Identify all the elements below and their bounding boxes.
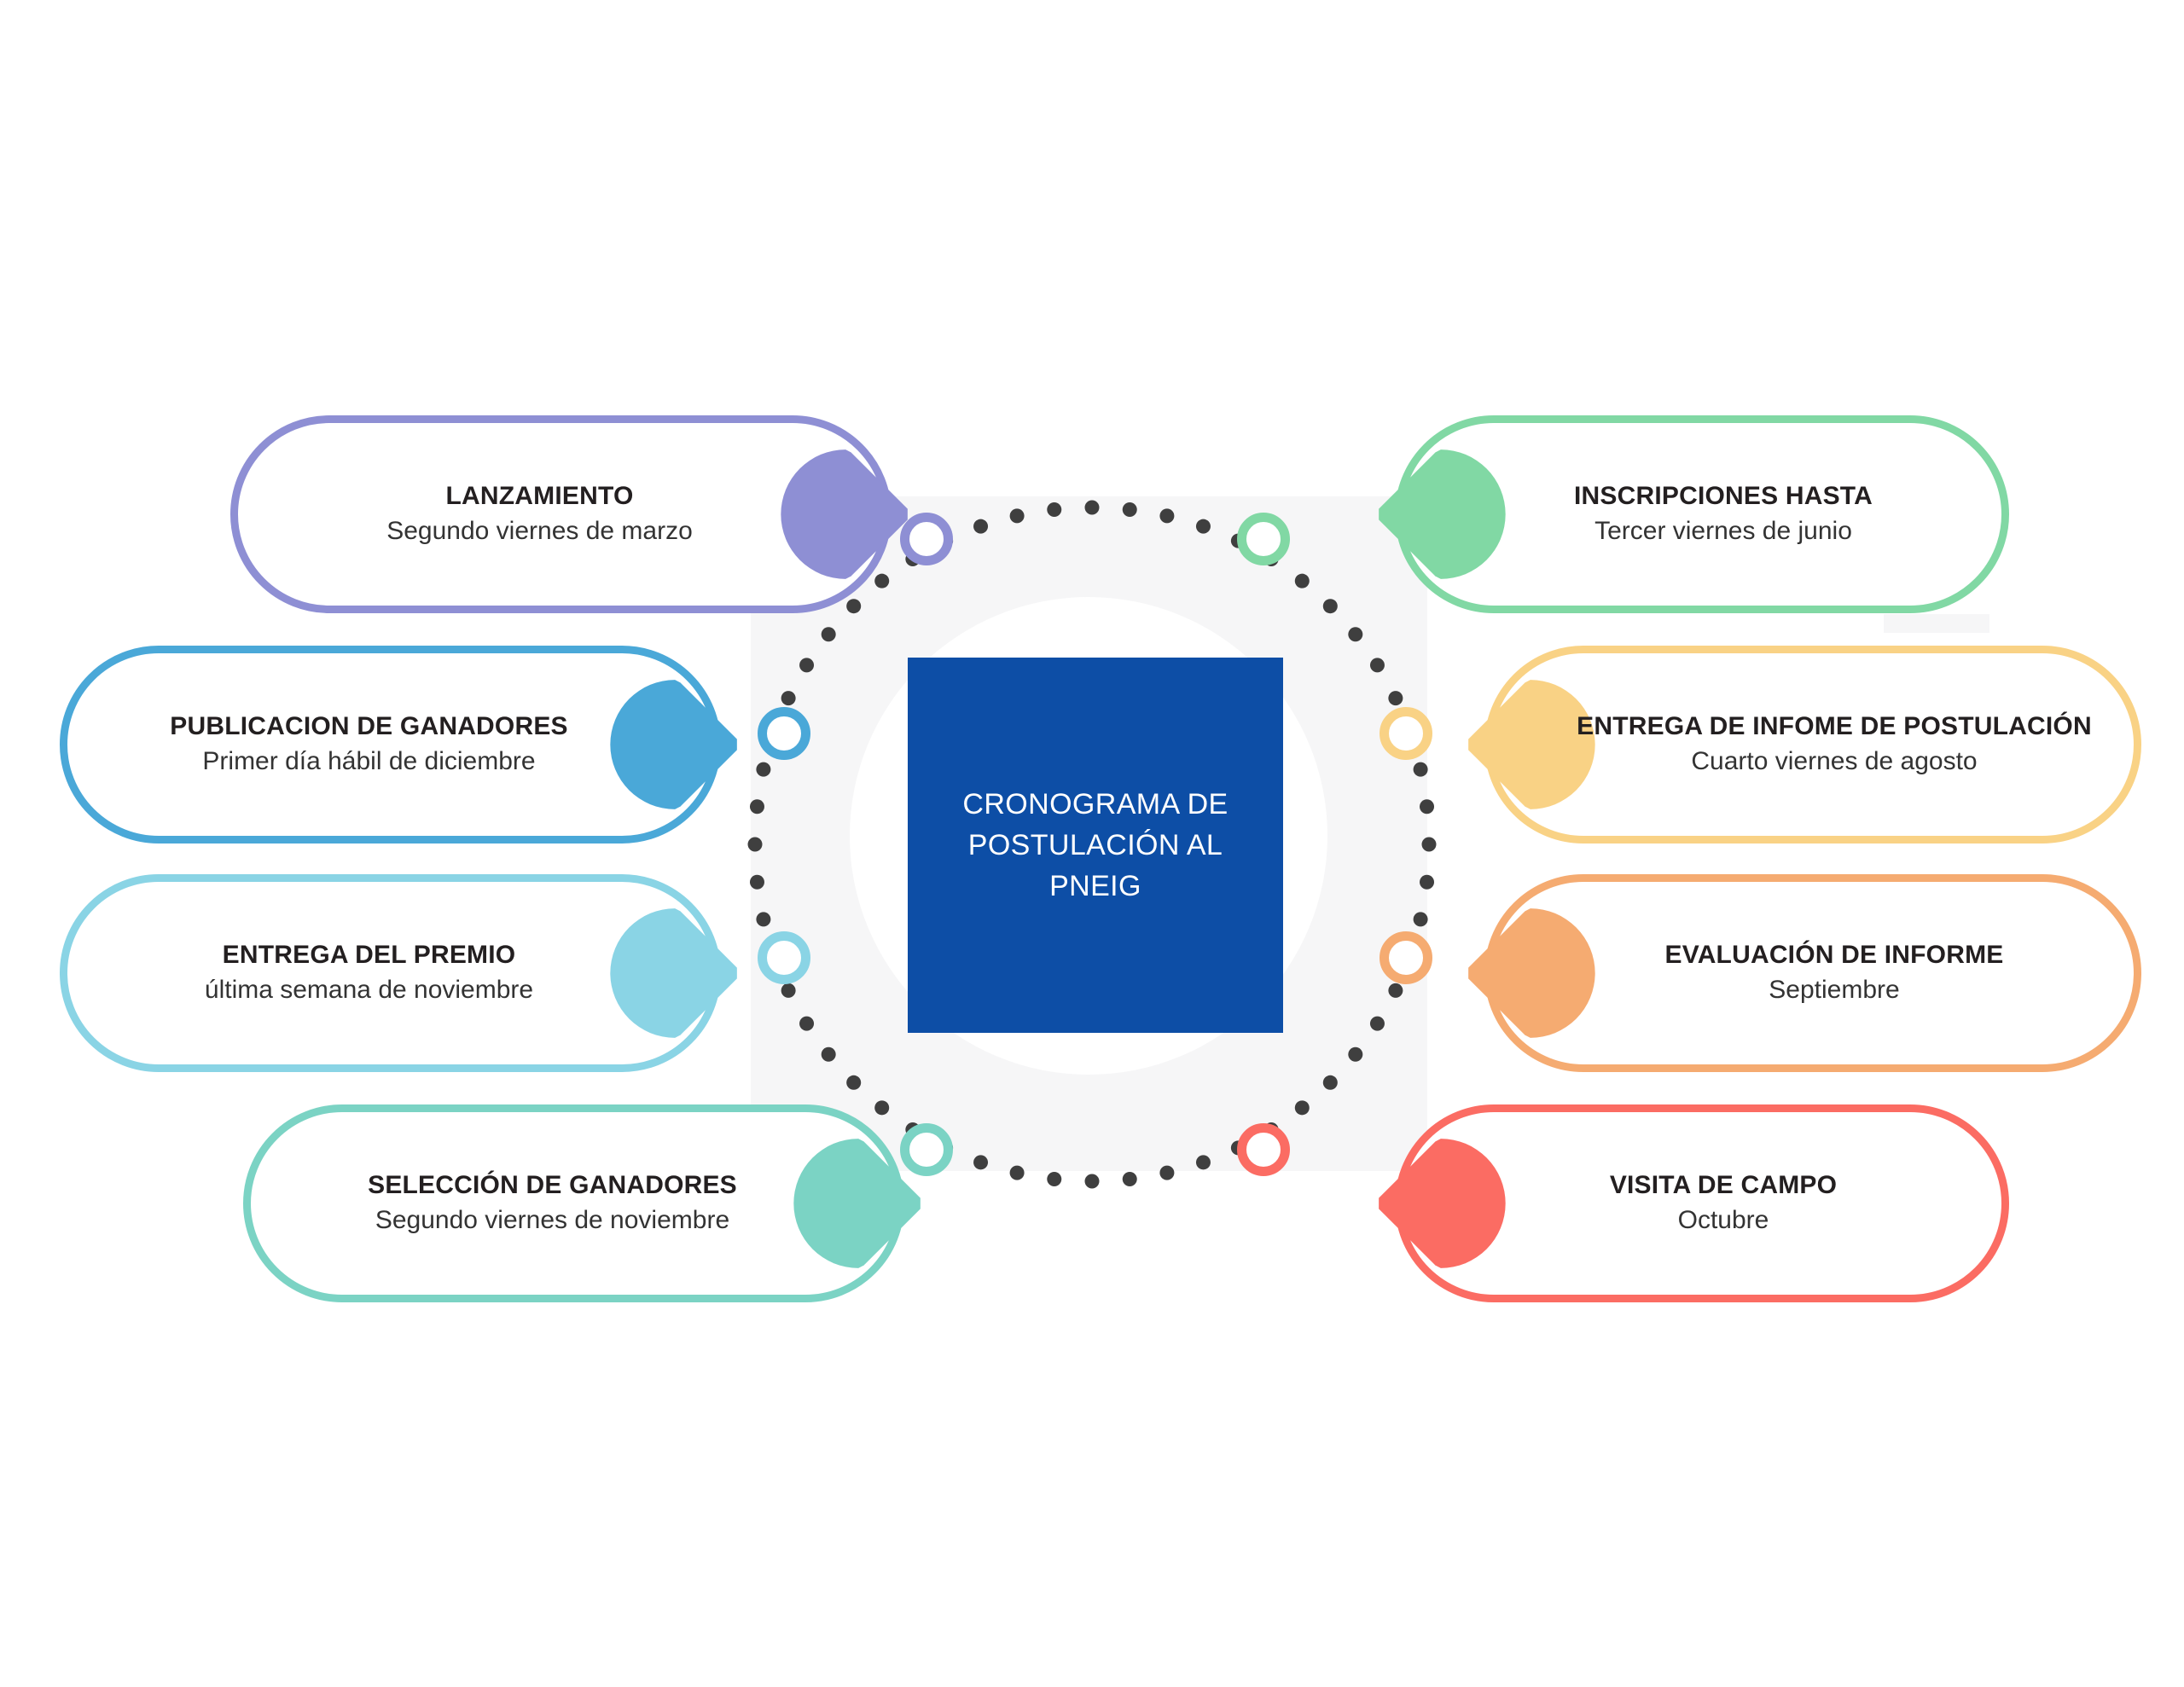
item-title: LANZAMIENTO	[270, 480, 810, 512]
item-subtitle: última semana de noviembre	[99, 974, 639, 1006]
node-ring-inscripciones-hasta[interactable]	[1237, 513, 1290, 565]
item-labels: VISITA DE CAMPO Octubre	[1395, 1169, 2009, 1238]
diagram-canvas: LANZAMIENTO Segundo viernes de marzo PUB…	[0, 0, 2184, 1687]
node-ring-visita-de-campo[interactable]	[1237, 1123, 1290, 1176]
item-inscripciones-hasta[interactable]: INSCRIPCIONES HASTA Tercer viernes de ju…	[1395, 415, 2009, 613]
center-title-card: CRONOGRAMA DE POSTULACIÓN AL PNEIG	[908, 658, 1283, 1033]
node-ring-evaluacion-de-informe[interactable]	[1380, 931, 1432, 984]
background-artifact-rect	[1884, 614, 1989, 633]
item-labels: PUBLICACION DE GANADORES Primer día hábi…	[60, 710, 721, 779]
item-seleccion-de-ganadores[interactable]: SELECCIÓN DE GANADORES Segundo viernes d…	[243, 1104, 904, 1302]
item-lanzamiento[interactable]: LANZAMIENTO Segundo viernes de marzo	[230, 415, 892, 613]
item-subtitle: Octubre	[1477, 1204, 1970, 1237]
item-labels: SELECCIÓN DE GANADORES Segundo viernes d…	[243, 1169, 904, 1238]
item-labels: INSCRIPCIONES HASTA Tercer viernes de ju…	[1395, 480, 2009, 548]
item-subtitle: Cuarto viernes de agosto	[1566, 745, 2102, 778]
item-title: EVALUACIÓN DE INFORME	[1566, 939, 2102, 971]
item-labels: LANZAMIENTO Segundo viernes de marzo	[230, 480, 892, 548]
node-ring-entrega-del-premio[interactable]	[758, 931, 810, 984]
item-entrega-del-premio[interactable]: ENTREGA DEL PREMIO última semana de novi…	[60, 874, 721, 1072]
item-title: SELECCIÓN DE GANADORES	[282, 1169, 822, 1201]
node-ring-publicacion-de-ganadores[interactable]	[758, 707, 810, 760]
item-labels: EVALUACIÓN DE INFORME Septiembre	[1484, 939, 2141, 1007]
item-title: ENTREGA DE INFOME DE POSTULACIÓN	[1566, 710, 2102, 742]
item-title: PUBLICACION DE GANADORES	[99, 710, 639, 742]
item-labels: ENTREGA DEL PREMIO última semana de novi…	[60, 939, 721, 1007]
item-labels: ENTREGA DE INFOME DE POSTULACIÓN Cuarto …	[1484, 710, 2141, 779]
item-subtitle: Primer día hábil de diciembre	[99, 745, 639, 778]
node-ring-entrega-de-infome-de-postulacion[interactable]	[1380, 707, 1432, 760]
item-entrega-de-infome-de-postulacion[interactable]: ENTREGA DE INFOME DE POSTULACIÓN Cuarto …	[1484, 646, 2141, 843]
center-title-text: CRONOGRAMA DE POSTULACIÓN AL PNEIG	[962, 784, 1228, 907]
item-publicacion-de-ganadores[interactable]: PUBLICACION DE GANADORES Primer día hábi…	[60, 646, 721, 843]
item-visita-de-campo[interactable]: VISITA DE CAMPO Octubre	[1395, 1104, 2009, 1302]
item-title: ENTREGA DEL PREMIO	[99, 939, 639, 971]
item-title: INSCRIPCIONES HASTA	[1477, 480, 1970, 512]
item-subtitle: Segundo viernes de noviembre	[282, 1204, 822, 1237]
item-subtitle: Tercer viernes de junio	[1477, 515, 1970, 548]
item-subtitle: Septiembre	[1566, 974, 2102, 1006]
item-title: VISITA DE CAMPO	[1477, 1169, 1970, 1201]
item-subtitle: Segundo viernes de marzo	[270, 515, 810, 548]
item-evaluacion-de-informe[interactable]: EVALUACIÓN DE INFORME Septiembre	[1484, 874, 2141, 1072]
